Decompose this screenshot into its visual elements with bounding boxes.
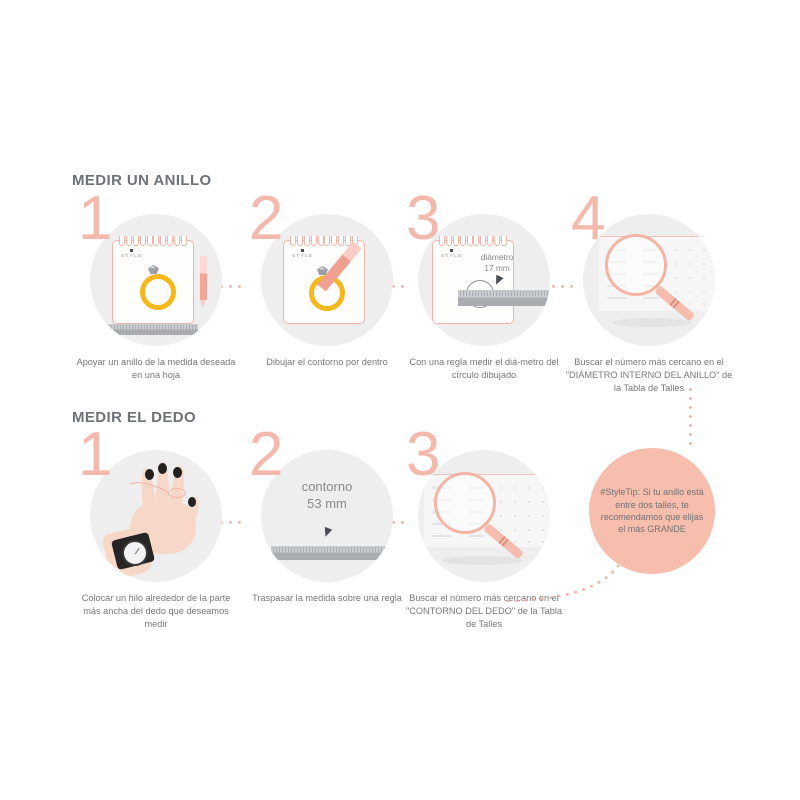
step-number: 3 (406, 188, 440, 250)
pencil-icon (200, 256, 207, 300)
contour-measurement-label: contorno 53 mm (277, 478, 377, 512)
notepad-spiral-rings (439, 236, 507, 245)
nail-index (145, 469, 154, 480)
ring-gem-icon (148, 265, 159, 274)
step-number: 1 (78, 424, 112, 486)
step-number: 2 (249, 424, 283, 486)
notepad-spiral-rings (290, 236, 358, 245)
step-caption: Con una regla medir el diá-metro del cír… (400, 356, 568, 382)
watch-face (122, 540, 148, 566)
nail-ring (173, 467, 182, 478)
notepad-brand-logo: STYLE (292, 249, 314, 258)
magnifier-shadow (613, 318, 691, 327)
diameter-measurement-label: diámetro 17 mm (464, 252, 530, 274)
pencil-tip-icon (200, 300, 206, 307)
ring-band-icon (140, 274, 176, 310)
step-number: 1 (78, 188, 112, 250)
step-caption: Colocar un hilo alrededor de la parte má… (72, 592, 240, 631)
step-number: 3 (406, 424, 440, 486)
step-number: 4 (571, 188, 605, 250)
step-caption: Buscar el número más cercano en el "CONT… (400, 592, 568, 631)
thread-loop (168, 488, 186, 498)
nail-middle (158, 463, 167, 474)
connector-dots-step4-tip (689, 385, 692, 447)
pointer-arrow-icon (322, 527, 333, 538)
ruler-icon (458, 290, 550, 306)
ruler-icon (106, 324, 198, 335)
notepad-brand-logo: STYLE (121, 249, 143, 258)
connector-curve-tip (0, 0, 800, 800)
style-tip-bubble: #StyleTip: Si tu anillo está entre dos t… (589, 448, 715, 574)
step-caption: Dibujar el contorno por dentro (243, 356, 411, 369)
style-tip-text: #StyleTip: Si tu anillo está entre dos t… (598, 486, 706, 536)
infographic-canvas: MEDIR UN ANILLO 1 STYLE Apoyar un anillo… (0, 0, 800, 800)
step-caption: Apoyar un anillo de la medida deseada en… (72, 356, 240, 382)
magnifier-shadow (442, 556, 522, 565)
step-caption: Buscar el número más cercano en el "DIÁM… (565, 356, 733, 395)
notepad-spiral-rings (119, 236, 187, 245)
notepad-brand-logo: STYLE (441, 249, 463, 258)
step-number: 2 (249, 188, 283, 250)
notepad: STYLE (112, 240, 194, 324)
ruler-icon (271, 546, 387, 560)
step-caption: Traspasar la medida sobre una regla (243, 592, 411, 605)
nail-pinky (188, 497, 196, 507)
